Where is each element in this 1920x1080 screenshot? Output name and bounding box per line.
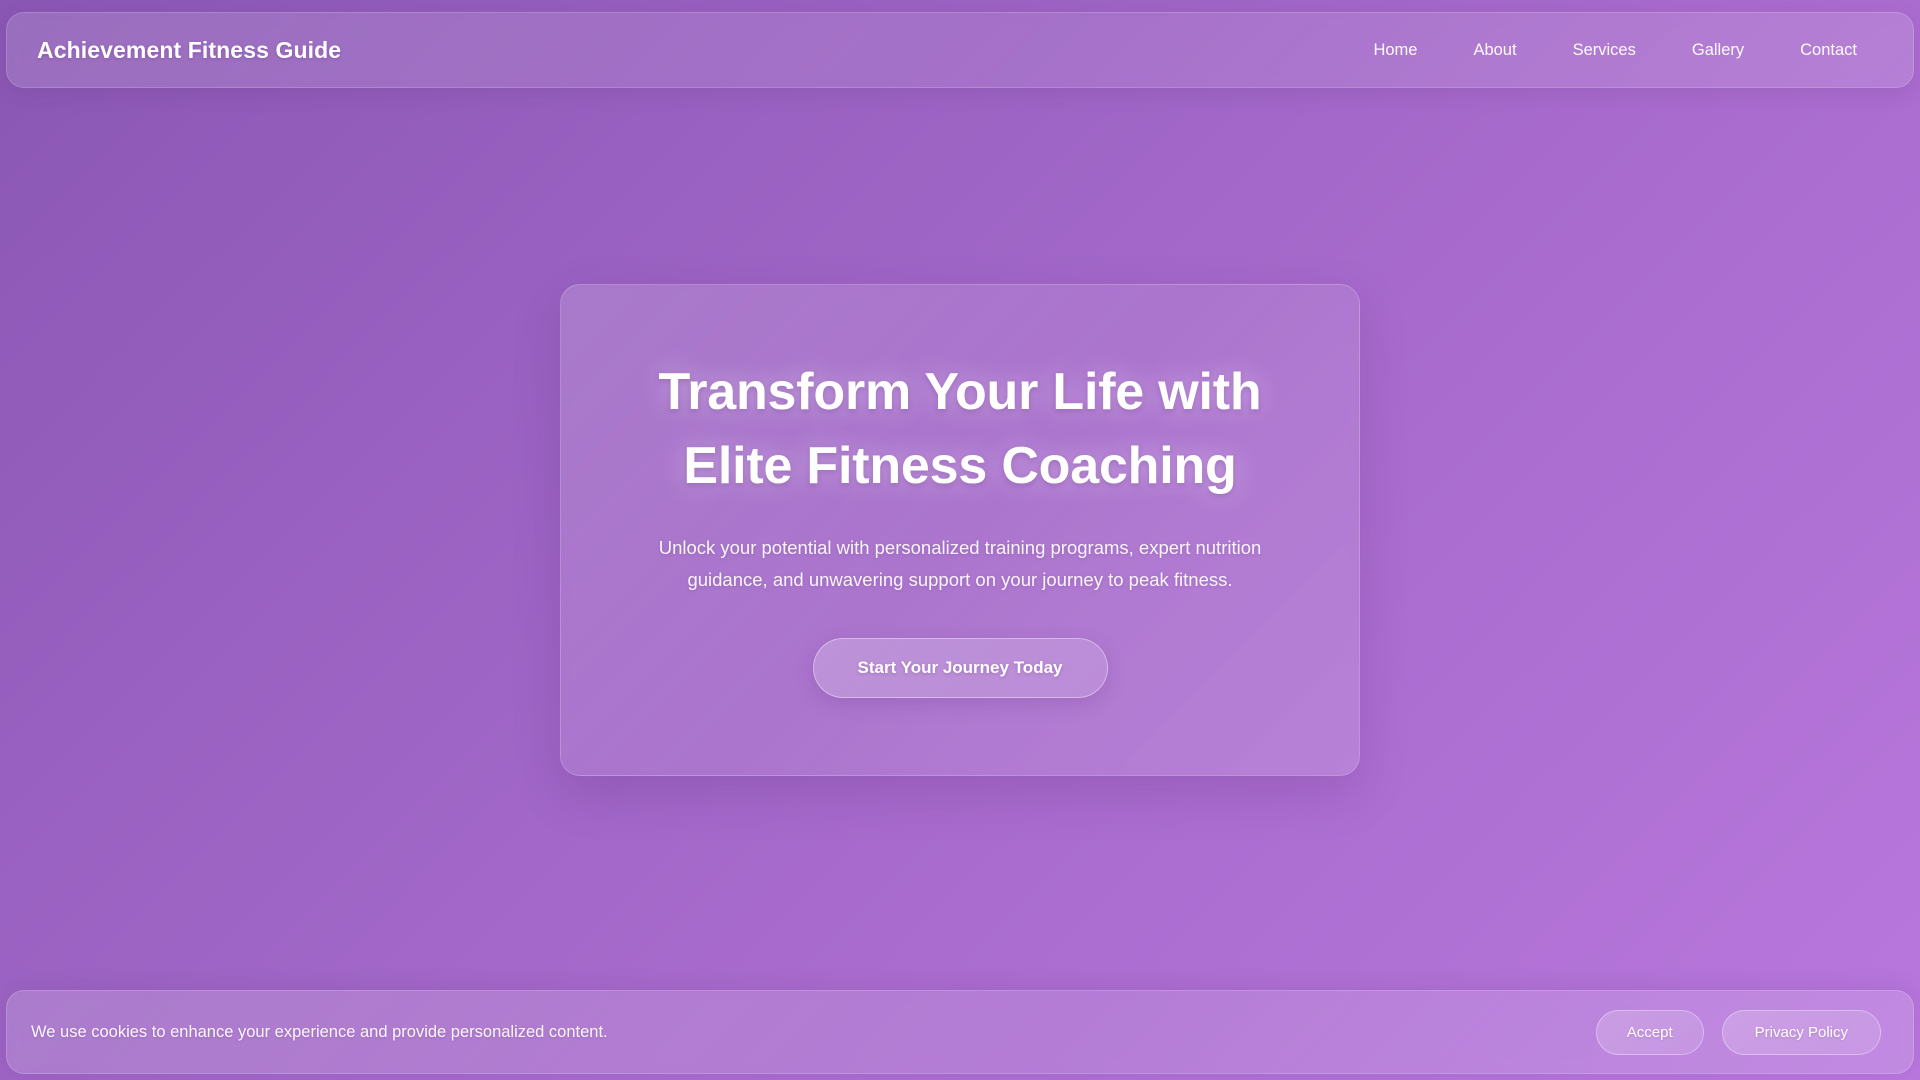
- cookie-actions: Accept Privacy Policy: [1596, 1010, 1881, 1055]
- hero-subtitle: Unlock your potential with personalized …: [623, 532, 1297, 596]
- privacy-policy-button[interactable]: Privacy Policy: [1722, 1010, 1881, 1055]
- cookie-message: We use cookies to enhance your experienc…: [31, 1023, 608, 1042]
- hero-title: Transform Your Life with Elite Fitness C…: [623, 356, 1297, 504]
- cookie-consent-banner: We use cookies to enhance your experienc…: [6, 990, 1914, 1074]
- start-journey-button[interactable]: Start Your Journey Today: [813, 638, 1108, 698]
- hero-card: Transform Your Life with Elite Fitness C…: [560, 284, 1360, 776]
- hero-section: Transform Your Life with Elite Fitness C…: [0, 0, 1920, 1080]
- accept-cookies-button[interactable]: Accept: [1596, 1010, 1704, 1055]
